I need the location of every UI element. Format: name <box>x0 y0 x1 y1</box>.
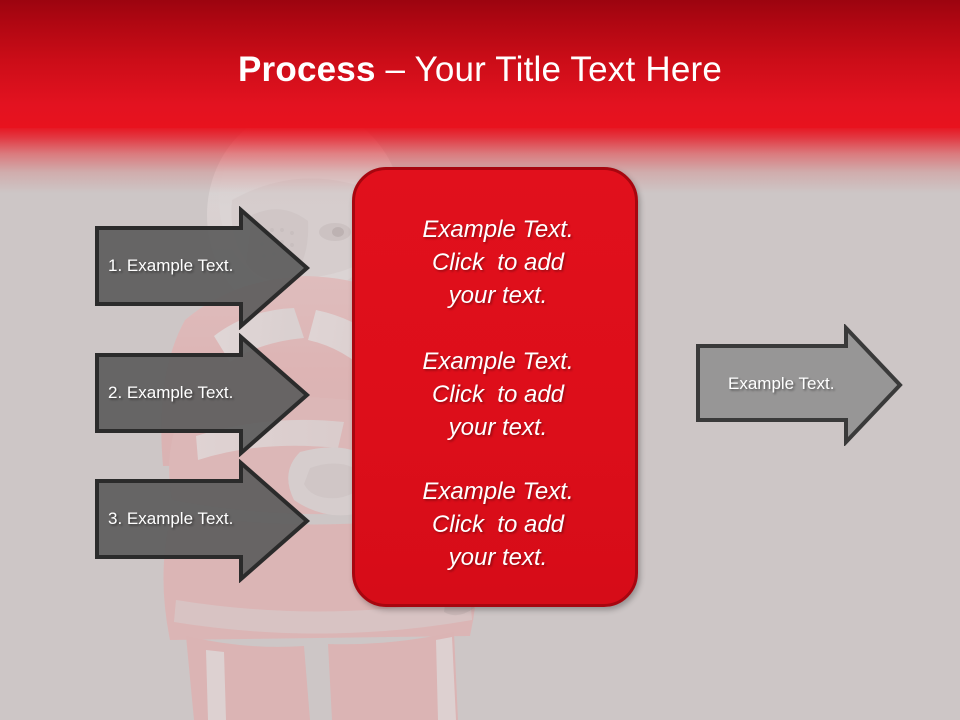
content-panel[interactable]: Example Text. Click to add your text. Ex… <box>352 167 638 607</box>
arrow-right-shape <box>694 324 906 446</box>
panel-block-2-line-1: Example Text. <box>355 345 641 378</box>
panel-block-2-line-3: your text. <box>355 411 641 444</box>
process-step-1-arrow[interactable]: 1. Example Text. <box>93 206 313 330</box>
panel-block-3-line-1: Example Text. <box>355 475 641 508</box>
panel-text-block-3: Example Text. Click to add your text. <box>355 475 641 574</box>
panel-text-block-2: Example Text. Click to add your text. <box>355 345 641 444</box>
process-step-3-arrow[interactable]: 3. Example Text. <box>93 459 313 583</box>
panel-block-1-line-2: Click to add <box>355 246 641 279</box>
slide-canvas: Process – Your Title Text Here 1. Exampl… <box>0 0 960 720</box>
title-strong: Process <box>238 50 376 89</box>
title-separator: – <box>376 50 415 89</box>
panel-block-3-line-2: Click to add <box>355 508 641 541</box>
panel-block-1-line-3: your text. <box>355 279 641 312</box>
panel-text-block-1: Example Text. Click to add your text. <box>355 213 641 312</box>
page-title: Process – Your Title Text Here <box>0 48 960 92</box>
panel-block-2-line-2: Click to add <box>355 378 641 411</box>
arrow-right-shape <box>93 459 313 583</box>
title-light: Your Title Text Here <box>415 50 723 89</box>
process-result-arrow[interactable]: Example Text. <box>694 324 906 446</box>
arrow-right-shape <box>93 333 313 457</box>
process-step-2-arrow[interactable]: 2. Example Text. <box>93 333 313 457</box>
arrow-right-shape <box>93 206 313 330</box>
panel-block-3-line-3: your text. <box>355 541 641 574</box>
panel-block-1-line-1: Example Text. <box>355 213 641 246</box>
